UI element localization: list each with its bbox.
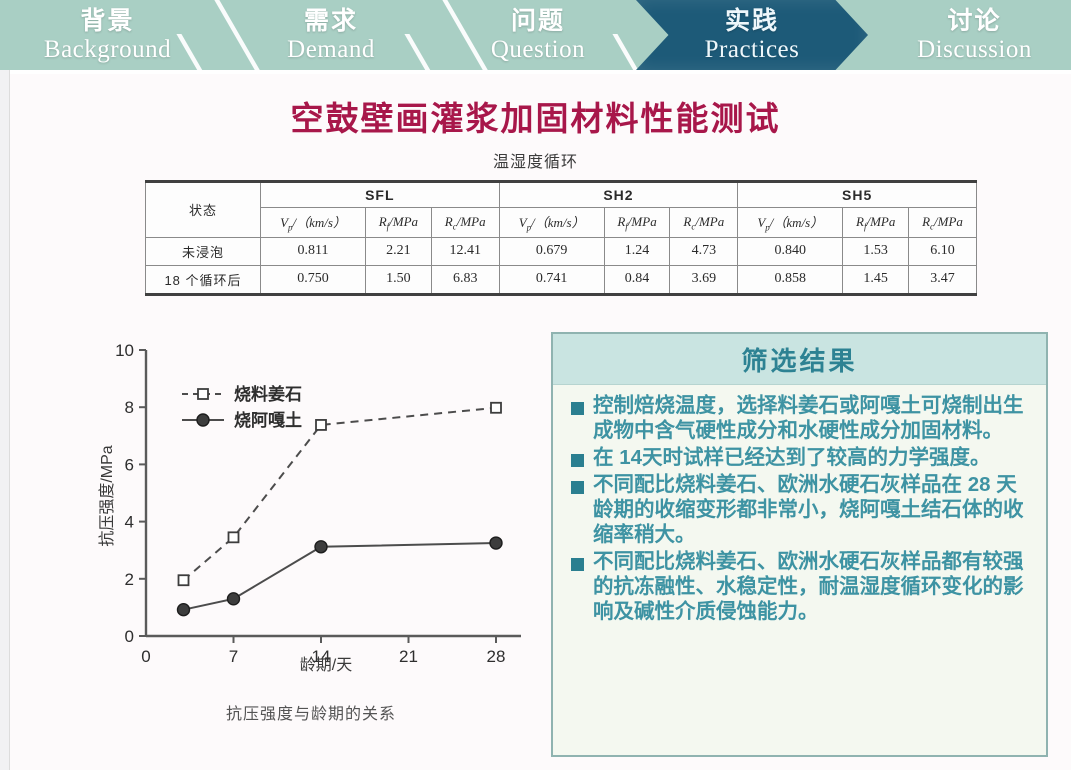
table-group-sfl: SFL — [261, 182, 500, 208]
list-item-text: 在 14天时试样已经达到了较高的力学强度。 — [593, 445, 991, 470]
table-cell: 0.750 — [261, 265, 366, 294]
list-item: 不同配比烧料姜石、欧洲水硬石灰样品都有较强的抗冻融性、水稳定性，耐温湿度循环变化… — [565, 549, 1032, 624]
table-col-header-rc-sfl: Rc/MPa — [431, 208, 499, 238]
nav-tab-label-en: Question — [491, 37, 585, 62]
table-group-header-row: 状态 SFL SH2 SH5 — [146, 182, 977, 208]
chart-legend: 烧料姜石烧阿嘎土 — [182, 384, 302, 430]
table-cell: 0.840 — [738, 237, 843, 265]
table-cell: 2.21 — [366, 237, 432, 265]
nav-tab-discussion[interactable]: 讨论 Discussion — [878, 0, 1071, 70]
list-item: 控制焙烧温度，选择料姜石或阿嘎土可烧制出生成物中含气硬性成分和水硬性成分加固材料… — [565, 393, 1032, 443]
table-col-header-rf-sh5: Rf/MPa — [843, 208, 909, 238]
svg-text:28: 28 — [487, 647, 506, 666]
y-axis-label: 抗压强度/MPa — [98, 445, 116, 546]
panel-heading: 筛选结果 — [741, 341, 857, 378]
table-col-header-rf-sh2: Rf/MPa — [604, 208, 670, 238]
y-axis-ticks: 0246810 — [115, 341, 146, 646]
svg-text:烧阿嘎土: 烧阿嘎土 — [234, 410, 302, 430]
svg-text:7: 7 — [229, 647, 238, 666]
bullet-square-icon — [571, 558, 584, 571]
chart-caption: 抗压强度与龄期的关系 — [86, 700, 536, 724]
table-row-label: 18 个循环后 — [146, 265, 261, 294]
nav-tab-question[interactable]: 问题 Question — [443, 0, 633, 70]
svg-text:8: 8 — [125, 398, 134, 417]
svg-text:烧料姜石: 烧料姜石 — [234, 384, 302, 404]
svg-text:0: 0 — [141, 647, 150, 666]
table-cell: 1.50 — [366, 265, 432, 294]
nav-tab-label-cn: 实践 — [725, 9, 779, 34]
top-navigation-ribbon: 背景 Background 需求 Demand 问题 Question 实践 P… — [0, 0, 1071, 70]
table-group-sh5: SH5 — [738, 182, 977, 208]
nav-tab-label-cn: 讨论 — [947, 9, 1001, 34]
list-item-text: 不同配比烧料姜石、欧洲水硬石灰样品在 28 天龄期的收缩变形都非常小，烧阿嘎土结… — [593, 472, 1032, 547]
list-item-text: 不同配比烧料姜石、欧洲水硬石灰样品都有较强的抗冻融性、水稳定性，耐温湿度循环变化… — [593, 549, 1032, 624]
table-cell: 6.10 — [909, 237, 977, 265]
table-col-header-vp-sh5: Vp/（km/s） — [738, 208, 843, 238]
table-cell: 0.811 — [261, 237, 366, 265]
table-cell: 3.69 — [670, 265, 738, 294]
nav-tab-label-cn: 需求 — [304, 9, 358, 34]
bullet-square-icon — [571, 454, 584, 467]
chart-svg: 0246810 07142128 烧料姜石烧阿嘎土 抗压强度/MPa 龄期/天 — [86, 336, 536, 676]
table-col-header-rc-sh5: Rc/MPa — [909, 208, 977, 238]
table-cell: 0.84 — [604, 265, 670, 294]
nav-tab-label-en: Background — [44, 37, 171, 62]
table-cell: 4.73 — [670, 237, 738, 265]
table-row-label: 未浸泡 — [146, 237, 261, 265]
table-row: 未浸泡 0.811 2.21 12.41 0.679 1.24 4.73 0.8… — [146, 237, 977, 265]
nav-tab-label-cn: 问题 — [511, 9, 565, 34]
table-row: 18 个循环后 0.750 1.50 6.83 0.741 0.84 3.69 … — [146, 265, 977, 294]
table-cell: 1.24 — [604, 237, 670, 265]
page-title: 空鼓壁画灌浆加固材料性能测试 — [0, 92, 1071, 140]
nav-tab-practices[interactable]: 实践 Practices — [636, 0, 868, 70]
table-col-header-vp-sfl: Vp/（km/s） — [261, 208, 366, 238]
table-cell: 1.53 — [843, 237, 909, 265]
nav-tab-label-en: Demand — [287, 37, 375, 62]
performance-table-wrapper: 状态 SFL SH2 SH5 Vp/（km/s） Rf/MPa Rc/MPa V… — [145, 180, 977, 296]
table-measure-header-row: Vp/（km/s） Rf/MPa Rc/MPa Vp/（km/s） Rf/MPa… — [146, 208, 977, 238]
table-cell: 12.41 — [431, 237, 499, 265]
nav-bottom-rule — [0, 70, 1071, 74]
svg-text:0: 0 — [125, 627, 134, 646]
table-cell: 6.83 — [431, 265, 499, 294]
table-group-sh2: SH2 — [499, 182, 738, 208]
nav-tab-label-en: Discussion — [917, 37, 1032, 62]
table-cell: 0.679 — [499, 237, 604, 265]
bullet-square-icon — [571, 481, 584, 494]
panel-body: 控制焙烧温度，选择料姜石或阿嘎土可烧制出生成物中含气硬性成分和水硬性成分加固材料… — [553, 385, 1046, 624]
left-gutter — [0, 70, 10, 770]
table-col-header-rf-sfl: Rf/MPa — [366, 208, 432, 238]
svg-text:4: 4 — [125, 513, 134, 532]
table-cell: 0.741 — [499, 265, 604, 294]
svg-text:6: 6 — [125, 455, 134, 474]
svg-text:2: 2 — [125, 570, 134, 589]
list-item-text: 控制焙烧温度，选择料姜石或阿嘎土可烧制出生成物中含气硬性成分和水硬性成分加固材料… — [593, 393, 1032, 443]
nav-tab-demand[interactable]: 需求 Demand — [236, 0, 426, 70]
bullet-square-icon — [571, 402, 584, 415]
table-cell: 1.45 — [843, 265, 909, 294]
performance-table: 状态 SFL SH2 SH5 Vp/（km/s） Rf/MPa Rc/MPa V… — [145, 180, 977, 296]
compressive-strength-chart: 0246810 07142128 烧料姜石烧阿嘎土 抗压强度/MPa 龄期/天 — [86, 336, 536, 676]
svg-text:10: 10 — [115, 341, 134, 360]
svg-text:21: 21 — [399, 647, 418, 666]
nav-tab-label-cn: 背景 — [80, 9, 134, 34]
table-cell: 0.858 — [738, 265, 843, 294]
table-col-header-rc-sh2: Rc/MPa — [670, 208, 738, 238]
table-cell: 3.47 — [909, 265, 977, 294]
list-item: 在 14天时试样已经达到了较高的力学强度。 — [565, 445, 1032, 470]
screening-results-panel: 筛选结果 控制焙烧温度，选择料姜石或阿嘎土可烧制出生成物中含气硬性成分和水硬性成… — [551, 332, 1048, 757]
nav-tab-label-en: Practices — [705, 37, 800, 62]
x-axis-label: 龄期/天 — [300, 656, 352, 674]
page-subtitle: 温湿度循环 — [0, 148, 1071, 172]
table-corner-label: 状态 — [146, 182, 261, 238]
chart-series-group — [178, 403, 503, 616]
list-item: 不同配比烧料姜石、欧洲水硬石灰样品在 28 天龄期的收缩变形都非常小，烧阿嘎土结… — [565, 472, 1032, 547]
panel-header: 筛选结果 — [553, 334, 1046, 385]
table-col-header-vp-sh2: Vp/（km/s） — [499, 208, 604, 238]
